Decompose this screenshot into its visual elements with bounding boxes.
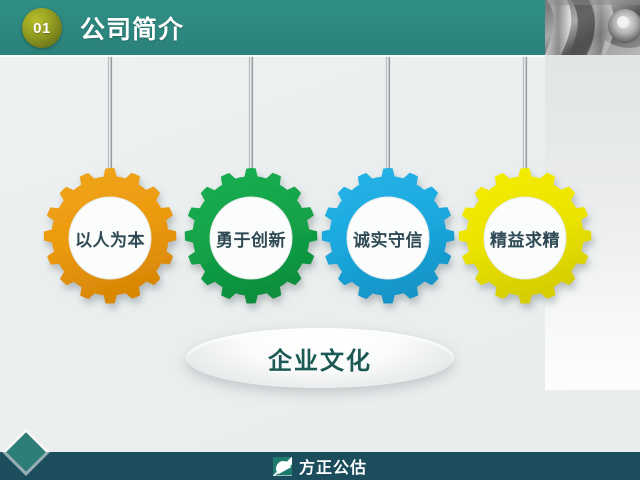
gear-label: 勇于创新: [180, 167, 322, 309]
gear-label: 诚实守信: [317, 167, 459, 309]
section-number-text: 01: [33, 20, 51, 37]
gear-value-3[interactable]: 诚实守信: [317, 167, 459, 309]
page-title: 公司简介: [80, 10, 184, 46]
gear-label: 精益求精: [454, 167, 596, 309]
footer-brand: 方正公估: [0, 452, 640, 480]
gear-hanging-rod: [386, 57, 390, 172]
fangzheng-logo-icon: [273, 457, 292, 476]
slide: 01 公司简介: [0, 0, 640, 480]
gear-hanging-rod: [523, 57, 527, 172]
header-underline: [0, 55, 545, 57]
gear-hanging-rod: [108, 57, 112, 172]
culture-caption-text: 企业文化: [268, 341, 372, 376]
gear-value-2[interactable]: 勇于创新: [180, 167, 322, 309]
gear-hanging-rod: [249, 57, 253, 172]
metallic-abstract-photo: [545, 0, 640, 55]
gear-label: 以人为本: [39, 167, 181, 309]
footer-brand-name: 方正公估: [299, 454, 367, 478]
section-number-badge: 01: [22, 8, 62, 48]
gear-value-4[interactable]: 精益求精: [454, 167, 596, 309]
gear-value-1[interactable]: 以人为本: [39, 167, 181, 309]
culture-caption-ellipse[interactable]: 企业文化: [186, 328, 454, 388]
